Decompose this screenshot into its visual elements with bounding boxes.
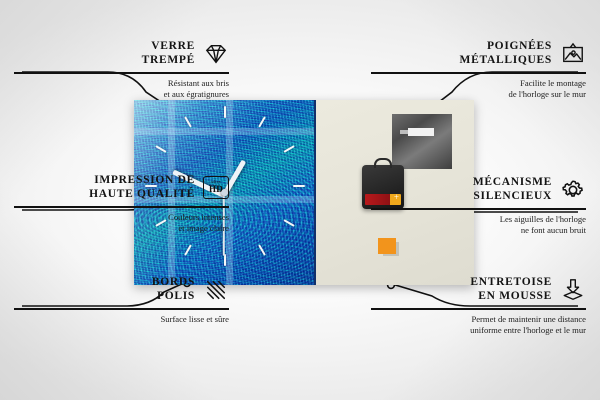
feature-title: IMPRESSION DE HAUTE QUALITÉ [89,174,195,201]
feature-title: ENTRETOISE EN MOUSSE [470,276,552,303]
polished-edges-icon [203,278,229,302]
feature-title: VERRE TREMPÉ [142,40,195,67]
divider [14,308,229,310]
feature-mecanisme-silencieux: MÉCANISME SILENCIEUX Les aiguilles de l'… [371,176,586,236]
feature-description: Résistant aux bris et aux égratignures [14,78,229,100]
feature-poignees-metalliques: POIGNÉES MÉTALLIQUES Facilite le montage… [371,40,586,100]
divider [14,206,229,208]
divider [371,308,586,310]
divider [371,72,586,74]
divider [371,208,586,210]
feature-description: Couleurs intenses et image claire [14,212,229,234]
feature-bords-polis: BORDS POLIS Surface lisse et sûre [14,276,229,325]
picture-frame-hanger-icon [560,42,586,66]
metal-hanger-icon [392,114,452,169]
diamond-icon [203,42,229,66]
gear-icon [560,178,586,202]
infographic-canvas: VERRE TREMPÉ Résistant aux bris et aux é… [0,0,600,400]
feature-description: Surface lisse et sûre [14,314,229,325]
foam-spacer [378,238,396,254]
feature-impression-haute-qualite: IMPRESSION DE HAUTE QUALITÉ ultra HD Cou… [14,174,229,234]
foam-spacer-arrow-icon [560,278,586,302]
feature-verre-trempe: VERRE TREMPÉ Résistant aux bris et aux é… [14,40,229,100]
ultra-hd-icon: ultra HD [203,176,229,200]
feature-title: BORDS POLIS [152,276,195,303]
feature-description: Facilite le montage de l'horloge sur le … [371,78,586,100]
feature-description: Les aiguilles de l'horloge ne font aucun… [371,214,586,236]
feature-entretoise-en-mousse: ENTRETOISE EN MOUSSE Permet de maintenir… [371,276,586,336]
feature-title: MÉCANISME SILENCIEUX [473,176,552,203]
divider [14,72,229,74]
feature-description: Permet de maintenir une distance uniform… [371,314,586,336]
feature-title: POIGNÉES MÉTALLIQUES [460,40,552,67]
